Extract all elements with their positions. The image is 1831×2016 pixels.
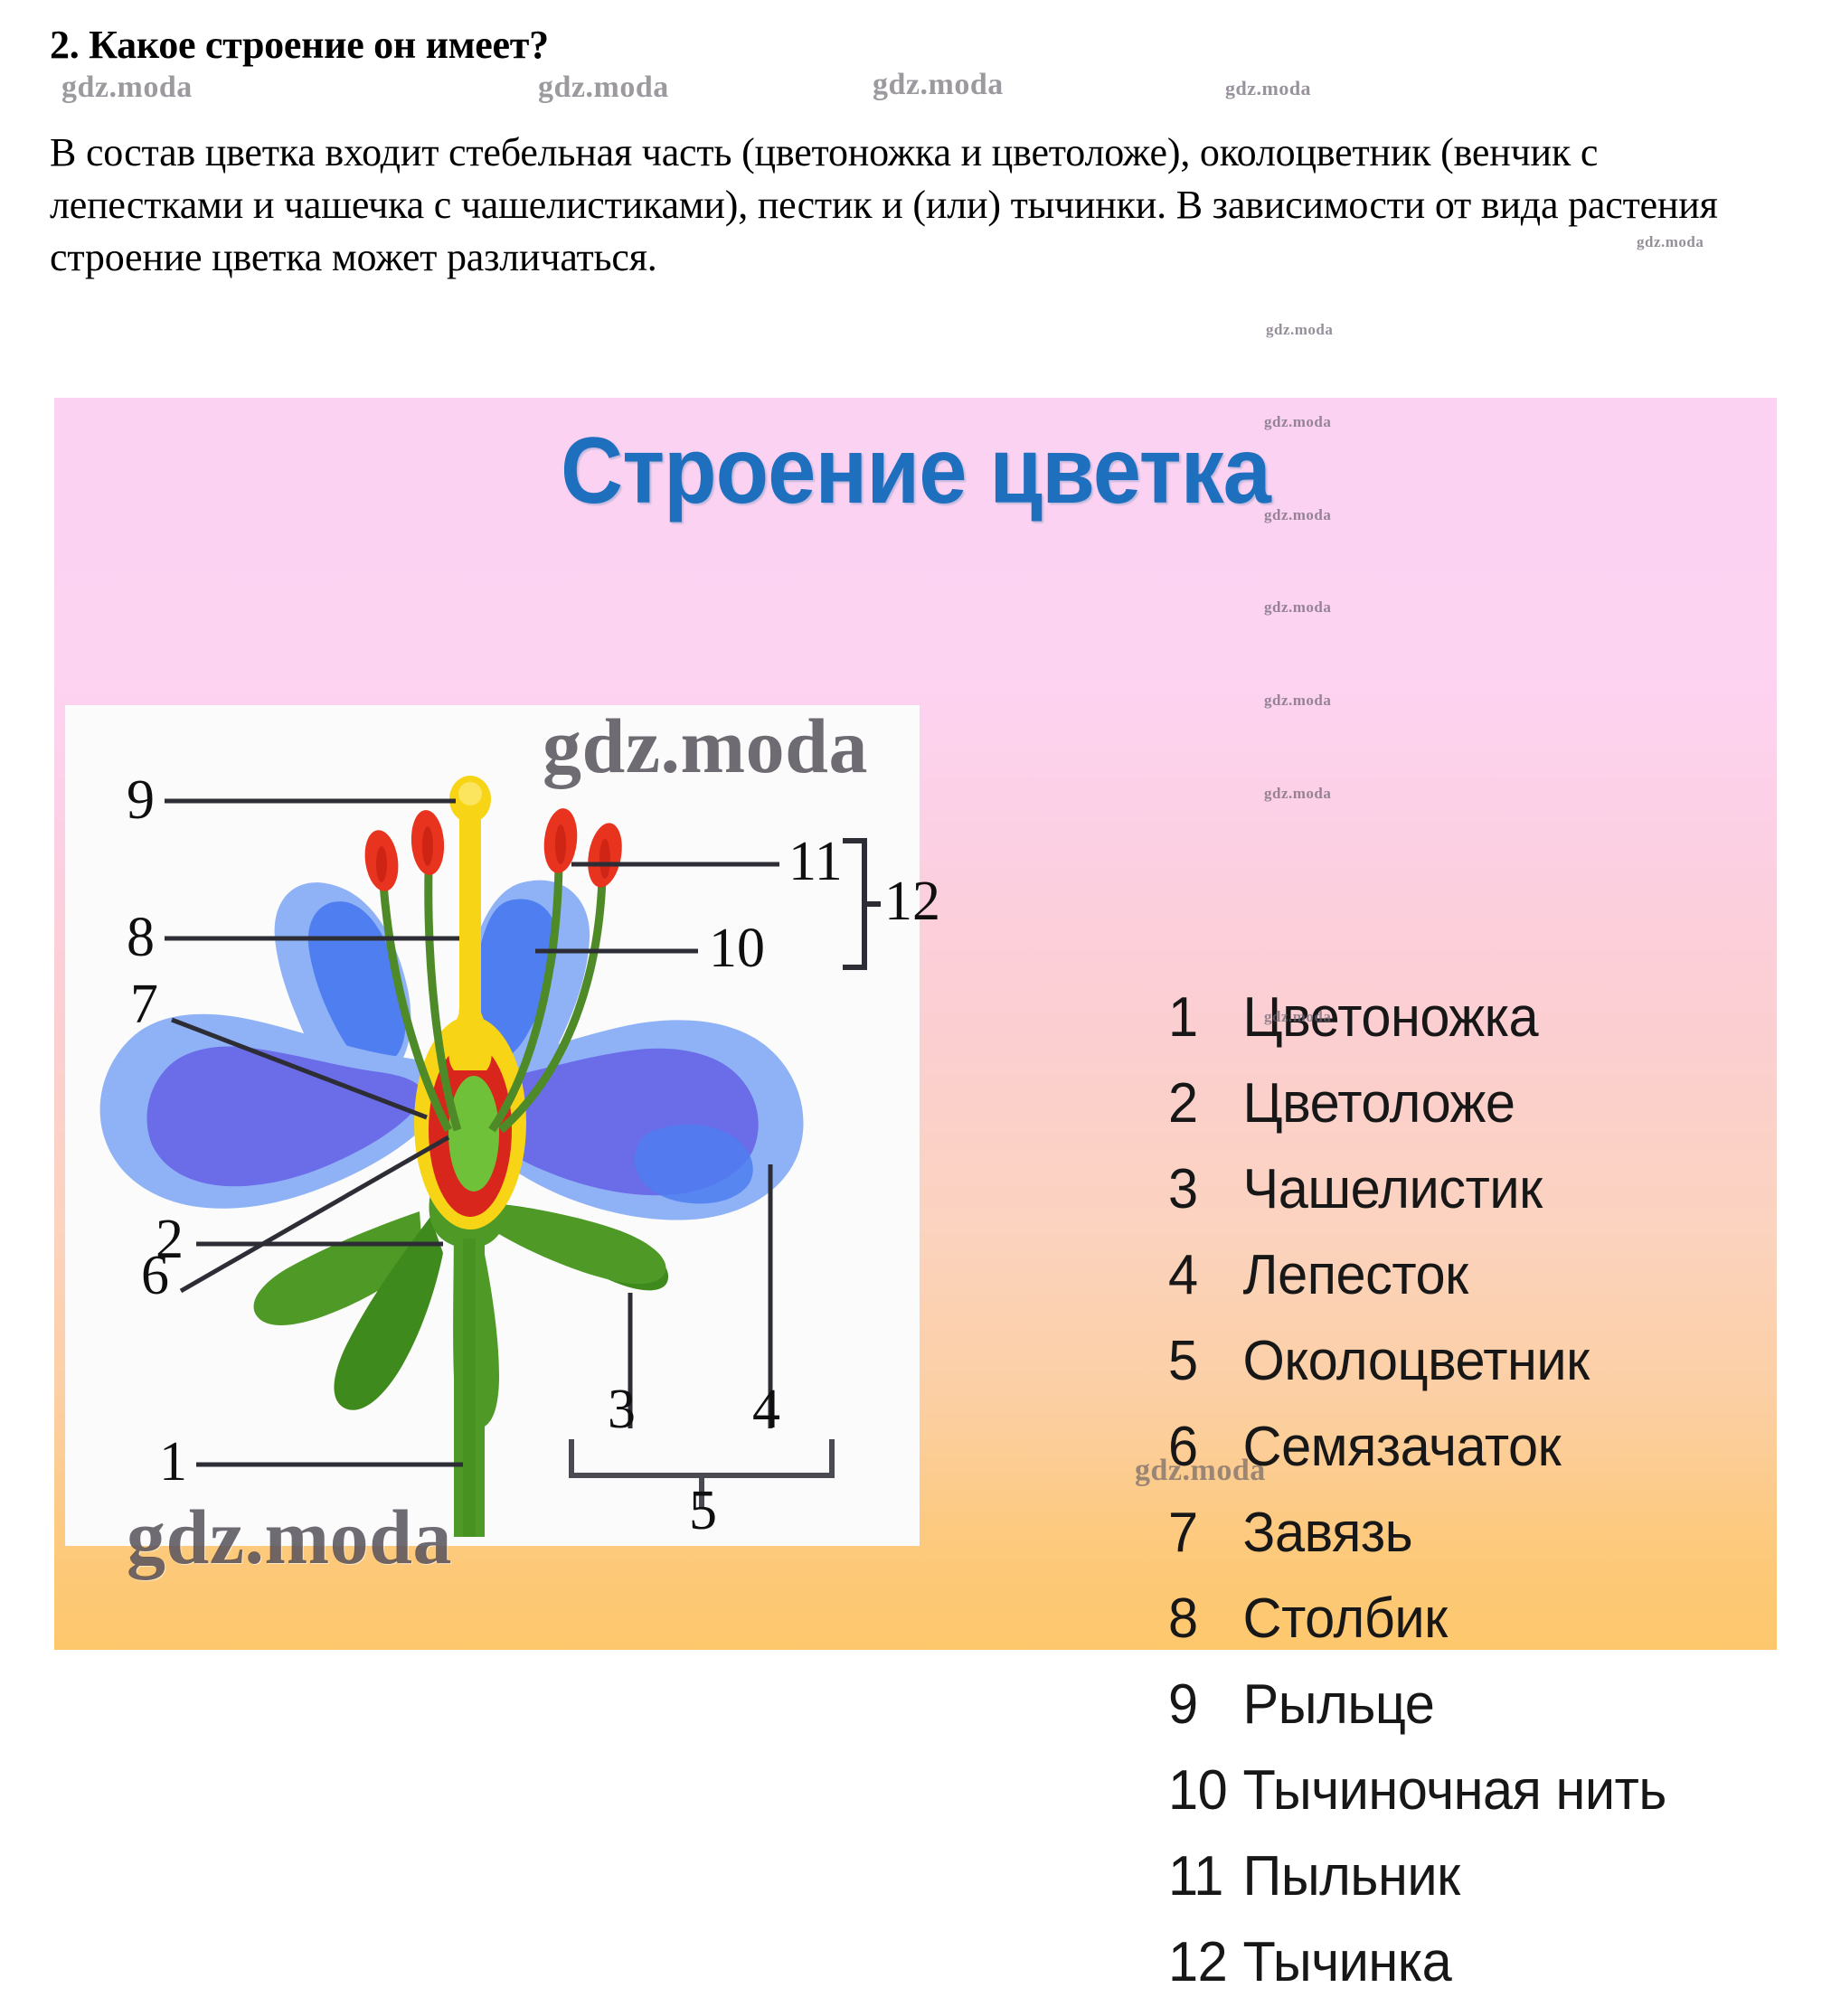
watermark: gdz.moda bbox=[873, 68, 1004, 102]
legend-label: Цветоножка bbox=[1243, 985, 1539, 1050]
legend-label: Семязачаток bbox=[1243, 1415, 1562, 1479]
callout-2: 2 bbox=[156, 1211, 184, 1267]
legend-row: 5Околоцветник bbox=[1168, 1329, 1776, 1415]
legend-label: Лепесток bbox=[1243, 1243, 1468, 1307]
legend-number: 12 bbox=[1168, 1930, 1243, 1994]
legend-row: 10Тычиночная нить bbox=[1168, 1758, 1776, 1844]
legend-number: 3 bbox=[1168, 1157, 1243, 1221]
legend-label: Рыльце bbox=[1243, 1672, 1435, 1737]
legend-row: 3Чашелистик bbox=[1168, 1157, 1776, 1243]
legend-number: 10 bbox=[1168, 1758, 1243, 1823]
legend-row: 2Цветоложе bbox=[1168, 1071, 1776, 1157]
legend-row: 8Столбик bbox=[1168, 1587, 1776, 1672]
legend-row: 4Лепесток bbox=[1168, 1243, 1776, 1329]
watermark: gdz.moda bbox=[538, 71, 669, 105]
legend-label: Завязь bbox=[1243, 1501, 1413, 1565]
legend-number: 11 bbox=[1168, 1844, 1243, 1908]
legend-row: 1Цветоножка bbox=[1168, 985, 1776, 1071]
callout-1: 1 bbox=[159, 1434, 187, 1490]
page-title: 2. Какое строение он имеет? bbox=[50, 22, 549, 68]
legend-label: Чашелистик bbox=[1243, 1157, 1543, 1221]
legend-number: 1 bbox=[1168, 985, 1243, 1050]
legend-list: 1Цветоножка2Цветоложе3Чашелистик4Лепесто… bbox=[1168, 985, 1801, 2016]
poster-title: Строение цветка bbox=[123, 418, 1708, 525]
callout-8: 8 bbox=[127, 909, 155, 966]
legend-row: 7Завязь bbox=[1168, 1501, 1776, 1587]
legend-label: Пыльник bbox=[1243, 1844, 1460, 1908]
legend-number: 9 bbox=[1168, 1672, 1243, 1737]
legend-label: Столбик bbox=[1243, 1587, 1448, 1651]
callout-5: 5 bbox=[689, 1483, 717, 1539]
watermark: gdz.moda bbox=[1266, 321, 1333, 339]
legend-number: 2 bbox=[1168, 1071, 1243, 1135]
watermark: gdz.moda bbox=[61, 71, 193, 105]
legend-label: Цветоложе bbox=[1243, 1071, 1515, 1135]
callout-10: 10 bbox=[709, 920, 765, 976]
legend-row: 9Рыльце bbox=[1168, 1672, 1776, 1758]
callout-3: 3 bbox=[608, 1381, 636, 1437]
legend-row: 11Пыльник bbox=[1168, 1844, 1776, 1930]
callout-9: 9 bbox=[127, 772, 155, 828]
callout-12: 12 bbox=[884, 873, 940, 929]
legend-number: 8 bbox=[1168, 1587, 1243, 1651]
legend-number: 4 bbox=[1168, 1243, 1243, 1307]
legend-row: 6Семязачаток bbox=[1168, 1415, 1776, 1501]
watermark: gdz.moda bbox=[1225, 77, 1311, 100]
legend-label: Околоцветник bbox=[1243, 1329, 1590, 1393]
callout-4: 4 bbox=[752, 1381, 780, 1437]
body-paragraph: В состав цветка входит стебельная часть … bbox=[50, 127, 1768, 284]
callout-11: 11 bbox=[788, 834, 843, 890]
legend-number: 7 bbox=[1168, 1501, 1243, 1565]
legend-number: 5 bbox=[1168, 1329, 1243, 1393]
callout-7: 7 bbox=[130, 976, 158, 1032]
flower-diagram: 9 8 7 6 2 1 11 10 12 3 4 5 bbox=[65, 705, 920, 1546]
legend-label: Тычиночная нить bbox=[1243, 1758, 1666, 1823]
legend-row: 12Тычинка bbox=[1168, 1930, 1776, 2016]
legend-number: 6 bbox=[1168, 1415, 1243, 1479]
legend-label: Тычинка bbox=[1243, 1930, 1452, 1994]
